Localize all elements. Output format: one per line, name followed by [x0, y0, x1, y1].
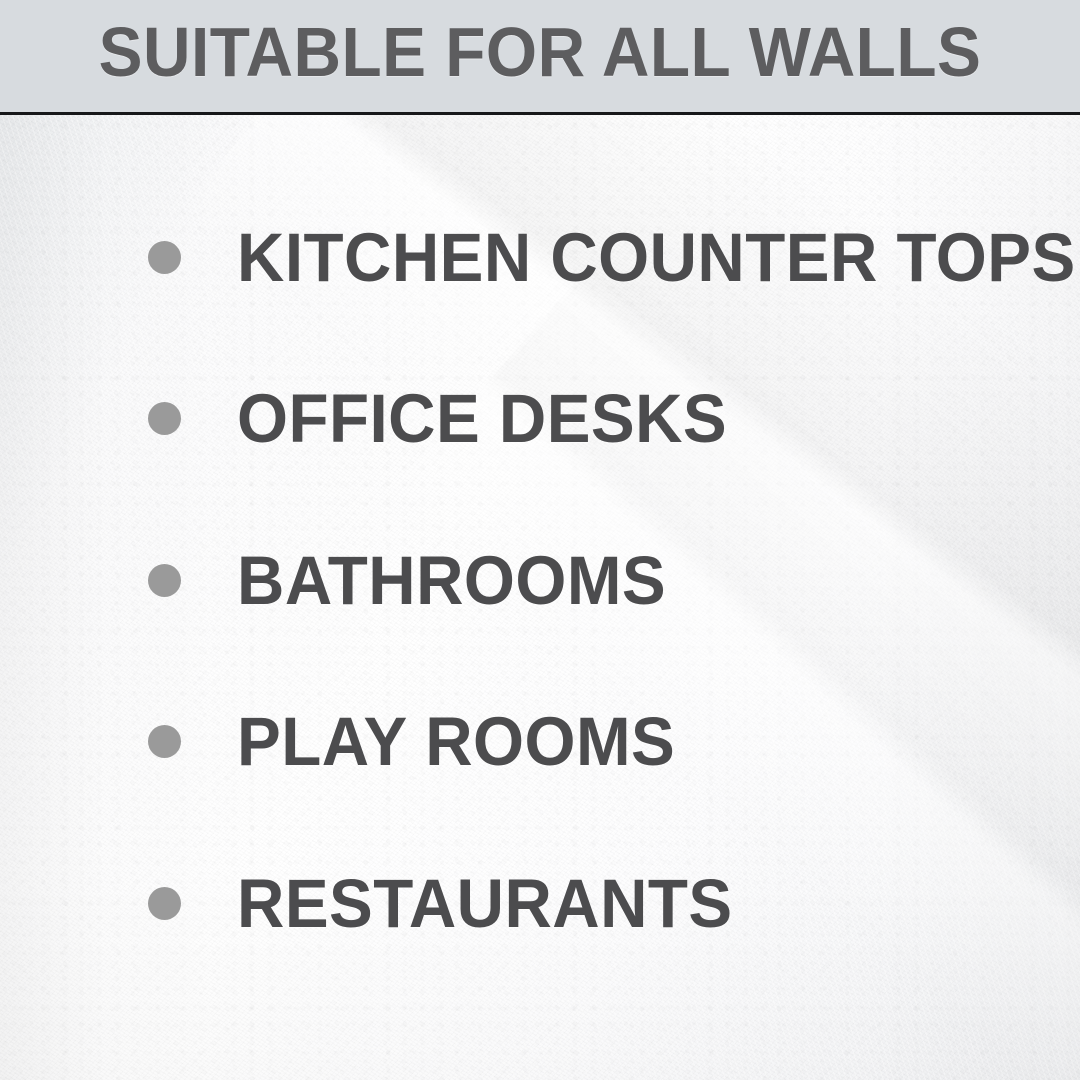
list-item: BATHROOMS	[148, 532, 689, 628]
feature-label: RESTAURANTS	[237, 869, 733, 938]
feature-label: KITCHEN COUNTER TOPS	[237, 223, 1076, 292]
header-band: SUITABLE FOR ALL WALLS	[0, 0, 1080, 112]
bullet-dot-icon	[148, 402, 181, 435]
bullet-dot-icon	[148, 241, 181, 274]
diagonal-crease-lower	[379, 235, 1080, 1080]
list-item: PLAY ROOMS	[148, 693, 698, 789]
body-panel: KITCHEN COUNTER TOPS OFFICE DESKS BATHRO…	[0, 115, 1080, 1080]
list-item: KITCHEN COUNTER TOPS	[148, 209, 1080, 305]
feature-label: PLAY ROOMS	[237, 707, 675, 776]
feature-label: BATHROOMS	[237, 546, 666, 615]
bullet-dot-icon	[148, 887, 181, 920]
list-item: OFFICE DESKS	[148, 370, 753, 466]
list-item: RESTAURANTS	[148, 855, 759, 951]
feature-label: OFFICE DESKS	[237, 384, 727, 453]
bullet-dot-icon	[148, 564, 181, 597]
bullet-dot-icon	[148, 725, 181, 758]
product-feature-poster: SUITABLE FOR ALL WALLS KITCHEN COUNTER T…	[0, 0, 1080, 1080]
page-title: SUITABLE FOR ALL WALLS	[32, 15, 1047, 89]
